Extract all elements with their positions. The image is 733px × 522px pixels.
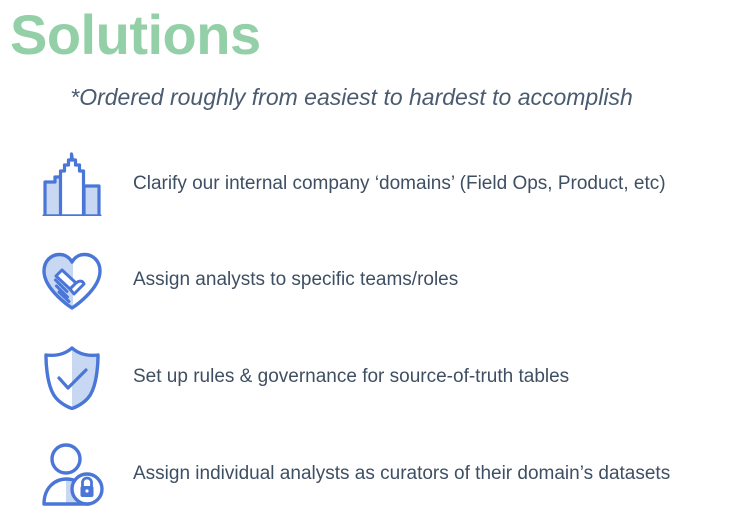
list-item-label: Set up rules & governance for source-of-… xyxy=(133,365,569,390)
user-lock-icon xyxy=(0,442,133,506)
page-subtitle: *Ordered roughly from easiest to hardest… xyxy=(0,84,703,111)
city-buildings-icon xyxy=(0,152,133,216)
solutions-slide: Solutions *Ordered roughly from easiest … xyxy=(0,0,733,516)
list-item-label: Clarify our internal company ‘domains’ (… xyxy=(133,172,666,197)
list-item: Assign analysts to specific teams/roles xyxy=(0,232,733,329)
list-item-label: Assign analysts to specific teams/roles xyxy=(133,268,458,293)
list-item-label: Assign individual analysts as curators o… xyxy=(133,462,670,487)
page-title: Solutions xyxy=(10,4,261,66)
list-item: Assign individual analysts as curators o… xyxy=(0,426,733,522)
shield-check-icon xyxy=(0,346,133,410)
list-item: Clarify our internal company ‘domains’ (… xyxy=(0,136,733,232)
solutions-list: Clarify our internal company ‘domains’ (… xyxy=(0,136,733,522)
list-item: Set up rules & governance for source-of-… xyxy=(0,329,733,426)
handshake-heart-icon xyxy=(0,251,133,311)
